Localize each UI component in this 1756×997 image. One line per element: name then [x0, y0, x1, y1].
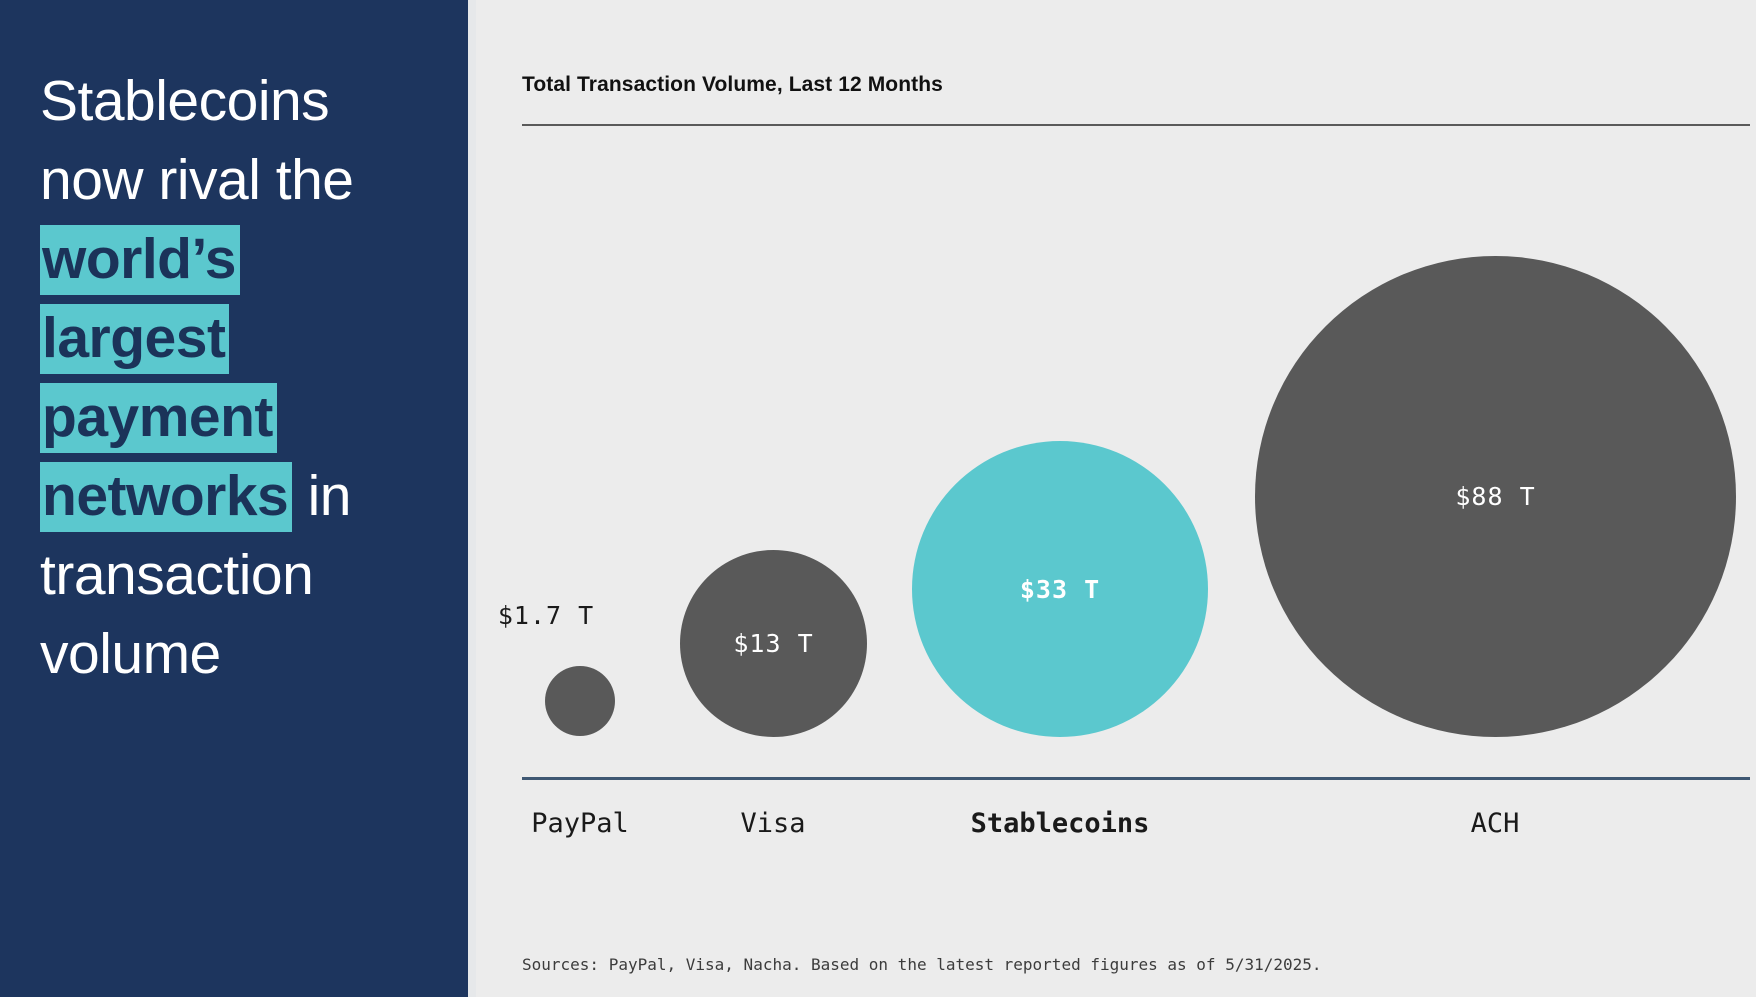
title-divider: [522, 124, 1750, 126]
category-label-visa: Visa: [740, 808, 805, 839]
slide-root: Stablecoins now rival the world’s larges…: [0, 0, 1756, 997]
bubble-ach[interactable]: $88 T: [1255, 256, 1736, 737]
category-label-paypal: PayPal: [531, 808, 629, 839]
bubble-value-ach: $88 T: [1455, 482, 1535, 511]
chart-panel: Total Transaction Volume, Last 12 Months…: [476, 0, 1756, 997]
category-label-stablecoins: Stablecoins: [971, 808, 1150, 839]
category-label-ach: ACH: [1471, 808, 1520, 839]
headline-line-transaction: transaction: [40, 543, 313, 607]
headline-highlight-networks: networks: [40, 462, 292, 532]
headline-highlight-largest: largest: [40, 304, 229, 374]
bubble-paypal[interactable]: [545, 666, 615, 736]
headline-highlight-payment: payment: [40, 383, 277, 453]
bubble-value-visa: $13 T: [733, 629, 813, 658]
sources-note: Sources: PayPal, Visa, Nacha. Based on t…: [522, 955, 1322, 974]
headline-highlight-worlds: world’s: [40, 225, 240, 295]
bubble-stablecoins[interactable]: $33 T: [912, 441, 1208, 737]
headline-text: Stablecoins now rival the world’s larges…: [40, 62, 440, 694]
bubble-visa[interactable]: $13 T: [680, 550, 867, 737]
headline-word-in: in: [292, 464, 351, 528]
headline-line-2: now rival the: [40, 148, 354, 212]
axis-baseline: [522, 777, 1750, 780]
bubble-value-stablecoins: $33 T: [1020, 575, 1100, 604]
bubble-value-paypal: $1.7 T: [470, 601, 622, 630]
chart-title: Total Transaction Volume, Last 12 Months: [522, 73, 943, 97]
headline-panel: Stablecoins now rival the world’s larges…: [0, 0, 468, 997]
headline-line-volume: volume: [40, 622, 221, 686]
headline-line-1: Stablecoins: [40, 69, 329, 133]
panel-gutter: [468, 0, 476, 997]
